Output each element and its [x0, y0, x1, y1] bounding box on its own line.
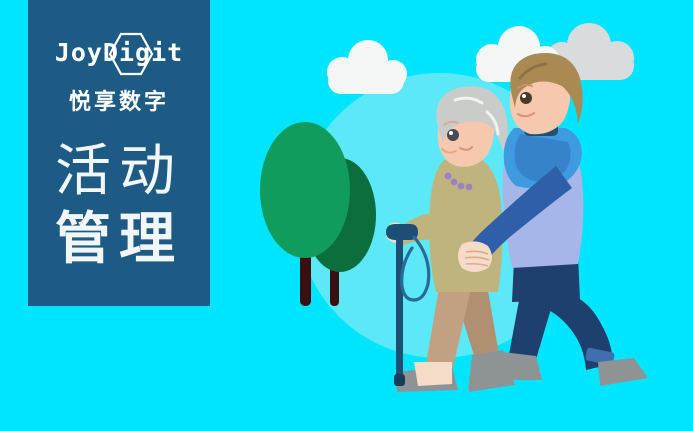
page-title: 活动 管理 — [28, 138, 210, 274]
logo-mark: JoyDigit — [28, 30, 210, 78]
logo-subtitle: 悦享数字 — [28, 84, 210, 116]
youth-shoe-back — [495, 352, 542, 380]
youth-shoe-front — [598, 358, 648, 386]
page-title-line-1: 活动 — [28, 138, 210, 206]
title-panel: JoyDigit 悦享数字 活动 管理 — [28, 0, 210, 306]
brand-logo: JoyDigit 悦享数字 — [28, 30, 210, 116]
poster-canvas: JoyDigit 悦享数字 活动 管理 — [0, 0, 693, 431]
cloud-left — [327, 40, 407, 94]
page-title-line-2: 管理 — [28, 206, 210, 274]
cane-strap — [402, 237, 429, 300]
walking-cane — [386, 224, 429, 386]
logo-wordmark: JoyDigit — [28, 37, 210, 69]
